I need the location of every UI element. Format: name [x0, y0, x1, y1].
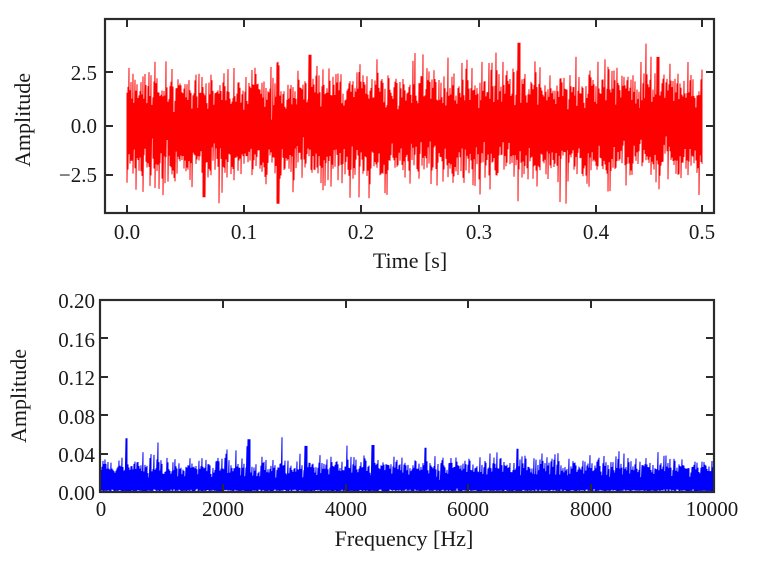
bottom-x-tick-label: 0 — [96, 497, 107, 521]
bottom-y-tick-label: 0.16 — [58, 328, 95, 352]
bottom-x-tick-label: 4000 — [325, 497, 367, 521]
top-x-tick-labels: 0.0 0.1 0.2 0.3 0.4 0.5 — [114, 220, 715, 244]
top-y-tick-label: 0.0 — [71, 114, 97, 138]
top-y-tick-label: 2.5 — [71, 61, 97, 85]
bottom-y-tick-label: 0.12 — [58, 366, 95, 390]
bottom-x-axis-title: Frequency [Hz] — [335, 526, 474, 551]
figure-canvas: Amplitude 2.5 0.0 −2.5 — [0, 0, 768, 576]
bottom-x-tickmarks — [100, 300, 714, 492]
bottom-spectrum-trace — [100, 437, 714, 492]
top-x-tick-label: 0.4 — [583, 220, 610, 244]
top-x-tick-label: 0.0 — [114, 220, 140, 244]
top-y-tick-label: −2.5 — [59, 163, 97, 187]
top-y-axis-title: Amplitude — [10, 73, 35, 167]
top-signal-trace — [127, 43, 702, 204]
frequency-spectrum-chart: Amplitude 0.20 0.16 0.12 0.08 0.04 0.00 — [0, 288, 768, 576]
bottom-y-tick-label: 0.00 — [58, 481, 95, 505]
top-x-tick-label: 0.3 — [466, 220, 492, 244]
bottom-axes-frame — [100, 300, 714, 492]
top-x-tick-label: 0.2 — [348, 220, 374, 244]
bottom-x-tick-label: 8000 — [570, 497, 612, 521]
top-y-tick-labels: 2.5 0.0 −2.5 — [59, 61, 97, 187]
top-x-axis-title: Time [s] — [373, 248, 447, 273]
bottom-y-tick-label: 0.04 — [58, 443, 95, 467]
bottom-x-tick-label: 6000 — [447, 497, 489, 521]
bottom-y-axis-title: Amplitude — [6, 349, 31, 443]
bottom-y-tickmarks — [100, 300, 714, 492]
time-domain-chart: Amplitude 2.5 0.0 −2.5 — [0, 0, 768, 288]
bottom-y-tick-label: 0.08 — [58, 405, 95, 429]
bottom-x-tick-label: 10000 — [686, 497, 739, 521]
bottom-y-tick-label: 0.20 — [58, 289, 95, 313]
bottom-x-tick-label: 2000 — [202, 497, 244, 521]
top-x-tick-label: 0.1 — [231, 220, 257, 244]
bottom-x-tick-labels: 0 2000 4000 6000 8000 10000 — [96, 497, 739, 521]
bottom-y-tick-labels: 0.20 0.16 0.12 0.08 0.04 0.00 — [58, 289, 95, 505]
top-x-tick-label: 0.5 — [689, 220, 715, 244]
